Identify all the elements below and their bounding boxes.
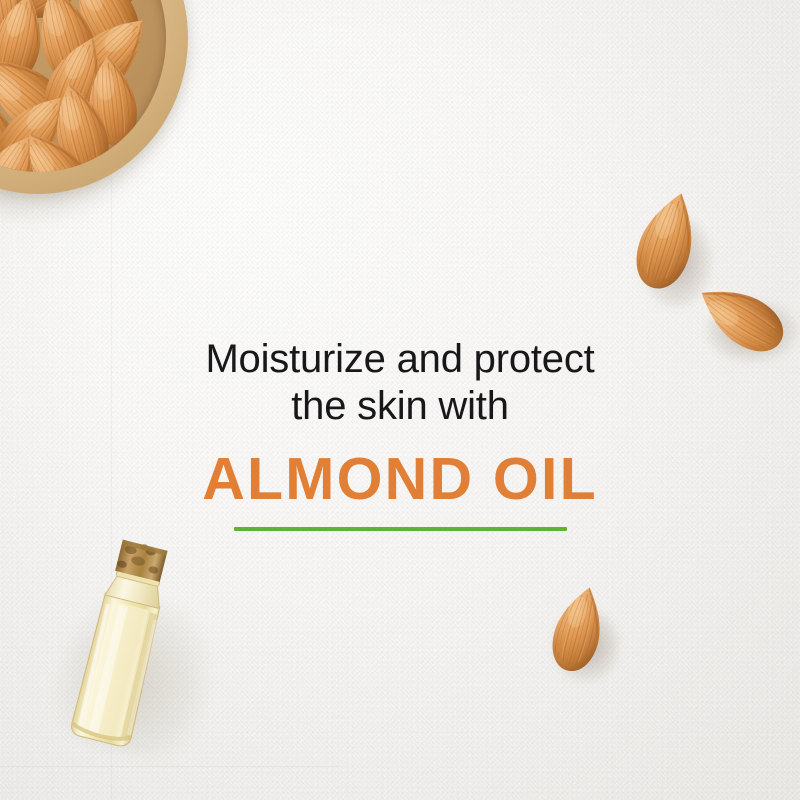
headline-text-block: Moisturize and protect the skin with ALM… (0, 336, 800, 531)
bowl-of-almonds (0, 0, 188, 194)
brand-title: ALMOND OIL (0, 448, 800, 510)
poster-canvas: Moisturize and protect the skin with ALM… (0, 0, 800, 800)
photo-seam-horizontal (0, 766, 340, 767)
page-title: Moisturize and protect the skin with (0, 336, 800, 430)
accent-rule-divider (234, 527, 567, 531)
headline-line-2: the skin with (0, 383, 800, 430)
headline-line-1: Moisturize and protect (0, 336, 800, 383)
